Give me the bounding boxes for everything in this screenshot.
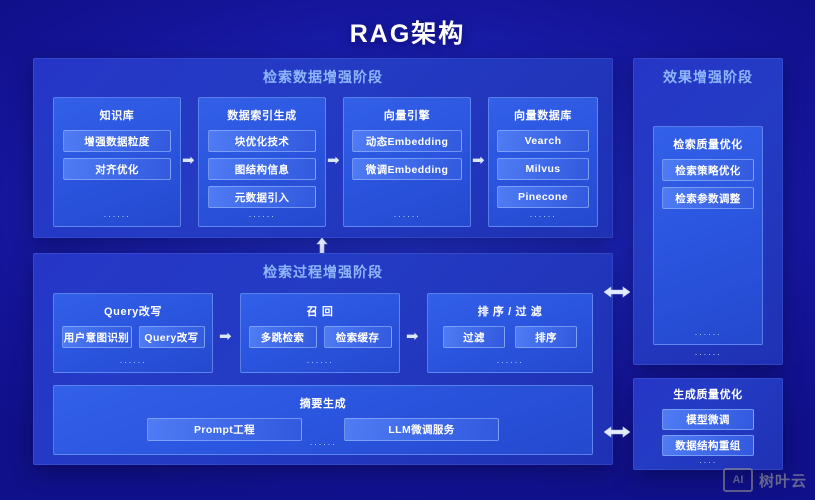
card-rank-filter[interactable]: 排 序 / 过 滤 过滤 排序 ······ xyxy=(427,293,593,373)
chip[interactable]: 图结构信息 xyxy=(208,158,316,180)
flow-arrow-icon: ➡ xyxy=(219,329,232,344)
panel-header-retrieval-data: 检索数据增强阶段 xyxy=(33,58,613,87)
card-summary-generation[interactable]: 摘要生成 Prompt工程 LLM微调服务 ······ xyxy=(53,385,593,455)
chip[interactable]: Prompt工程 xyxy=(147,418,302,441)
card-title: 生成质量优化 xyxy=(673,386,743,402)
diagram-canvas: RAG架构 检索数据增强阶段 知识库 增强数据粒度 对齐优化 ······ ➡ … xyxy=(0,0,815,500)
chip[interactable]: 微调Embedding xyxy=(352,158,462,180)
watermark-icon-label: AI xyxy=(732,474,743,486)
card-title: 向量引擎 xyxy=(384,107,430,123)
panel-header-retrieval-process: 检索过程增强阶段 xyxy=(33,253,613,282)
chip[interactable]: 模型微调 xyxy=(662,409,754,430)
chip[interactable]: 数据结构重组 xyxy=(662,435,754,456)
chip[interactable]: 检索缓存 xyxy=(324,326,392,348)
chip[interactable]: 对齐优化 xyxy=(63,158,171,180)
flow-arrow-icon: ➡ xyxy=(327,153,340,168)
image-placeholder-icon: AI xyxy=(723,468,753,492)
card-dots: ······ xyxy=(489,211,597,221)
chip[interactable]: 检索参数调整 xyxy=(662,187,754,209)
card-dots: ······ xyxy=(54,439,592,449)
card-dots: ···· xyxy=(653,457,763,467)
panel-dots: ······ xyxy=(633,349,783,359)
card-title: 数据索引生成 xyxy=(227,107,297,123)
card-title: 知识库 xyxy=(100,107,135,123)
card-dots: ······ xyxy=(428,357,592,367)
watermark: AI 树叶云 xyxy=(723,468,807,492)
card-dots: ······ xyxy=(54,357,212,367)
card-knowledge-base[interactable]: 知识库 增强数据粒度 对齐优化 ······ xyxy=(53,97,181,227)
card-title: 召 回 xyxy=(307,303,334,319)
chip[interactable]: 动态Embedding xyxy=(352,130,462,152)
card-dots: ······ xyxy=(199,211,325,221)
chip[interactable]: 块优化技术 xyxy=(208,130,316,152)
chip[interactable]: Query改写 xyxy=(139,326,205,348)
card-vector-engine[interactable]: 向量引擎 动态Embedding 微调Embedding ······ xyxy=(343,97,471,227)
watermark-text: 树叶云 xyxy=(759,470,807,491)
card-dots: ······ xyxy=(344,211,470,221)
horizontal-double-arrow-icon xyxy=(604,425,630,439)
card-query-rewrite[interactable]: Query改写 用户意图识别 Query改写 ······ xyxy=(53,293,213,373)
card-retrieval-quality-optimization[interactable]: 检索质量优化 检索策略优化 检索参数调整 ······ xyxy=(653,126,763,345)
card-title: 摘要生成 xyxy=(300,395,346,411)
chip[interactable]: Vearch xyxy=(497,130,589,152)
horizontal-double-arrow-icon xyxy=(604,285,630,299)
chip[interactable]: 过滤 xyxy=(443,326,505,348)
chip[interactable]: Milvus xyxy=(497,158,589,180)
card-data-index-generation[interactable]: 数据索引生成 块优化技术 图结构信息 元数据引入 ······ xyxy=(198,97,326,227)
page-title: RAG架构 xyxy=(0,14,815,50)
card-dots: ······ xyxy=(241,357,399,367)
panel-header-effect-enhancement: 效果增强阶段 xyxy=(633,58,783,87)
card-dots: ······ xyxy=(654,329,762,339)
chip[interactable]: Pinecone xyxy=(497,186,589,208)
card-dots: ······ xyxy=(54,211,180,221)
card-recall[interactable]: 召 回 多跳检索 检索缓存 ······ xyxy=(240,293,400,373)
card-title: 排 序 / 过 滤 xyxy=(478,303,543,319)
card-title: 检索质量优化 xyxy=(673,136,743,152)
chip[interactable]: 增强数据粒度 xyxy=(63,130,171,152)
chip[interactable]: 检索策略优化 xyxy=(662,159,754,181)
flow-arrow-icon: ➡ xyxy=(472,153,485,168)
card-title: 向量数据库 xyxy=(514,107,572,123)
card-vector-database[interactable]: 向量数据库 Vearch Milvus Pinecone ······ xyxy=(488,97,598,227)
chip[interactable]: 元数据引入 xyxy=(208,186,316,208)
chip[interactable]: 用户意图识别 xyxy=(62,326,132,348)
chip[interactable]: 多跳检索 xyxy=(249,326,317,348)
card-title: Query改写 xyxy=(104,303,162,319)
chip[interactable]: LLM微调服务 xyxy=(344,418,499,441)
card-generation-quality-optimization[interactable]: 生成质量优化 模型微调 数据结构重组 ···· xyxy=(653,383,763,469)
chip[interactable]: 排序 xyxy=(515,326,577,348)
flow-arrow-icon: ➡ xyxy=(406,329,419,344)
flow-arrow-icon: ➡ xyxy=(182,153,195,168)
